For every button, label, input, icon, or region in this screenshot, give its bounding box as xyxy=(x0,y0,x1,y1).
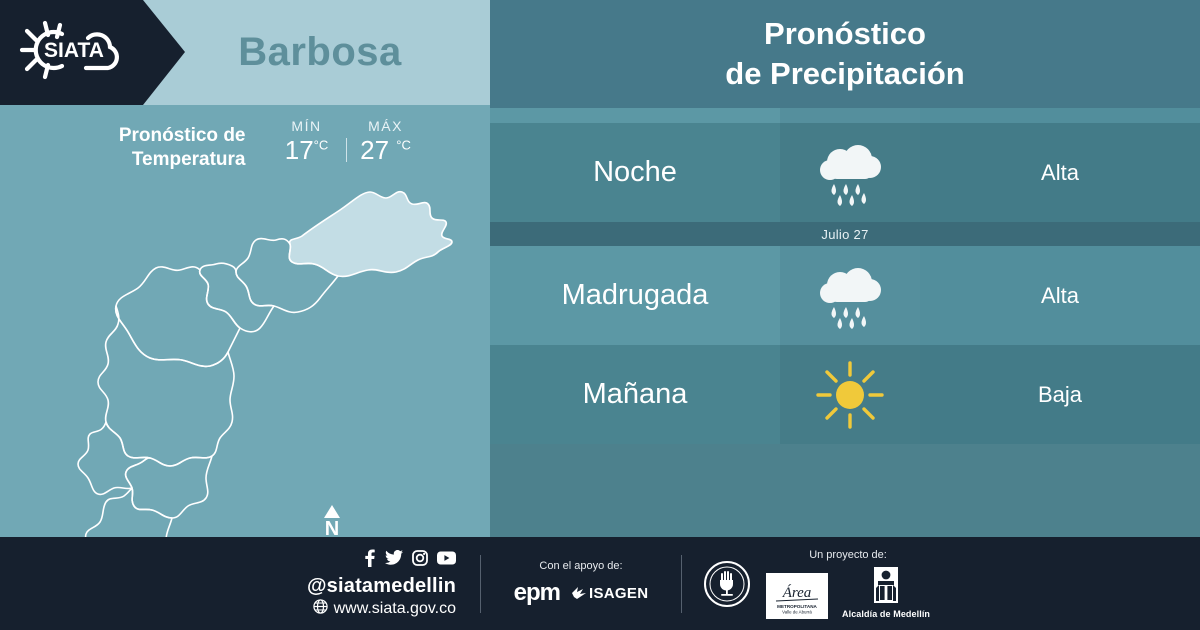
precipitation-header: Pronóstico de Precipitación xyxy=(490,0,1200,108)
project-right: Un proyecto de: Área METROPOLITANA Valle… xyxy=(766,549,930,619)
max-unit: °C xyxy=(396,137,411,152)
forecast-row[interactable]: Madrugada Alta xyxy=(490,246,1200,345)
max-number: 27 xyxy=(360,135,389,165)
project-caption: Un proyecto de: xyxy=(809,549,887,561)
sun-cloud-icon: SIATA xyxy=(14,19,134,86)
min-unit: °C xyxy=(314,137,329,152)
area-metropolitana-logo[interactable]: Área METROPOLITANA Valle de Aburrá xyxy=(766,573,828,619)
map-svg xyxy=(40,180,480,537)
isagen-logo[interactable]: ISAGEN xyxy=(571,585,648,602)
instagram-icon[interactable] xyxy=(412,550,428,571)
sun-icon xyxy=(780,345,920,444)
facebook-icon[interactable] xyxy=(363,549,376,572)
temperature-max-label: MÁX xyxy=(347,118,425,134)
rain-cloud-icon xyxy=(780,123,920,222)
forecast-probability: Alta xyxy=(920,123,1200,222)
university-seal-icon[interactable] xyxy=(704,561,750,607)
map-region-sabaneta xyxy=(86,488,172,537)
forecast-probability: Baja xyxy=(920,345,1200,444)
map-region-copacabana xyxy=(200,263,274,332)
precipitation-title: Pronóstico de Precipitación xyxy=(725,14,964,93)
support-logos: epm ISAGEN xyxy=(514,579,649,607)
area-logo-sub1: METROPOLITANA xyxy=(777,604,817,609)
map-region-bello xyxy=(116,267,240,367)
temperature-max-value: 27 °C xyxy=(347,135,425,166)
support-caption: Con el apoyo de: xyxy=(539,560,622,572)
support-block: Con el apoyo de: epm ISAGEN xyxy=(481,560,681,607)
forecast-probability: Alta xyxy=(920,246,1200,345)
compass-north: N xyxy=(316,505,348,539)
isagen-text: ISAGEN xyxy=(589,585,648,602)
precipitation-title-line1: Pronóstico xyxy=(725,14,964,54)
forecast-row[interactable]: Mañana Baja xyxy=(490,345,1200,444)
map-region-medellin xyxy=(98,306,234,466)
website-url: www.siata.gov.co xyxy=(334,600,456,618)
area-logo-text: Área xyxy=(782,584,812,601)
forecast-period: Madrugada xyxy=(490,246,780,345)
municipality-map[interactable]: N xyxy=(40,180,480,537)
map-region-itagui xyxy=(78,422,150,494)
youtube-icon[interactable] xyxy=(437,551,456,570)
rain-cloud-icon xyxy=(780,246,920,345)
compass-arrow-icon xyxy=(324,505,340,518)
globe-icon xyxy=(313,599,328,619)
min-number: 17 xyxy=(285,135,314,165)
website-line[interactable]: www.siata.gov.co xyxy=(313,599,456,619)
alcaldia-crest-icon xyxy=(871,566,901,606)
footer: @siatamedellin www.siata.gov.co Con el a… xyxy=(0,537,1200,630)
temperature-title-line1: Pronóstico de xyxy=(66,124,246,148)
social-handle[interactable]: @siatamedellin xyxy=(307,575,456,598)
temperature-min: MÍN 17°C xyxy=(268,118,346,166)
social-icons xyxy=(363,549,456,572)
precipitation-title-line2: de Precipitación xyxy=(725,54,964,94)
forecast-period: Noche xyxy=(490,123,780,222)
social-block: @siatamedellin www.siata.gov.co xyxy=(0,549,480,619)
area-logo-sub2: Valle de Aburrá xyxy=(782,609,812,614)
temperature-title-line2: Temperatura xyxy=(66,148,246,172)
temperature-min-label: MÍN xyxy=(268,118,346,134)
left-panel: Barbosa SIATA xyxy=(0,0,490,537)
siata-logo-text: SIATA xyxy=(44,39,104,62)
temperature-title: Pronóstico de Temperatura xyxy=(66,118,246,173)
twitter-icon[interactable] xyxy=(385,550,403,570)
alcaldia-logo[interactable]: Alcaldía de Medellín xyxy=(842,566,930,619)
alcaldia-label: Alcaldía de Medellín xyxy=(842,609,930,619)
project-logos: Área METROPOLITANA Valle de Aburrá xyxy=(766,566,930,619)
forecast-period: Mañana xyxy=(490,345,780,444)
isagen-mark-icon xyxy=(571,586,587,600)
page-title: Barbosa xyxy=(150,0,490,105)
right-panel: Pronóstico de Precipitación Julio 26 Tar… xyxy=(490,0,1200,537)
temperature-values: MÍN 17°C MÁX 27 °C xyxy=(268,118,425,166)
temperature-max: MÁX 27 °C xyxy=(347,118,425,166)
project-block: Un proyecto de: Área METROPOLITANA Valle… xyxy=(682,549,1200,619)
infographic-canvas: Barbosa SIATA xyxy=(0,0,1200,630)
temperature-min-value: 17°C xyxy=(268,135,346,166)
forecast-row[interactable]: Noche Alta xyxy=(490,123,1200,222)
epm-logo[interactable]: epm xyxy=(514,579,560,607)
date-band-1: Julio 27 xyxy=(490,222,1200,246)
